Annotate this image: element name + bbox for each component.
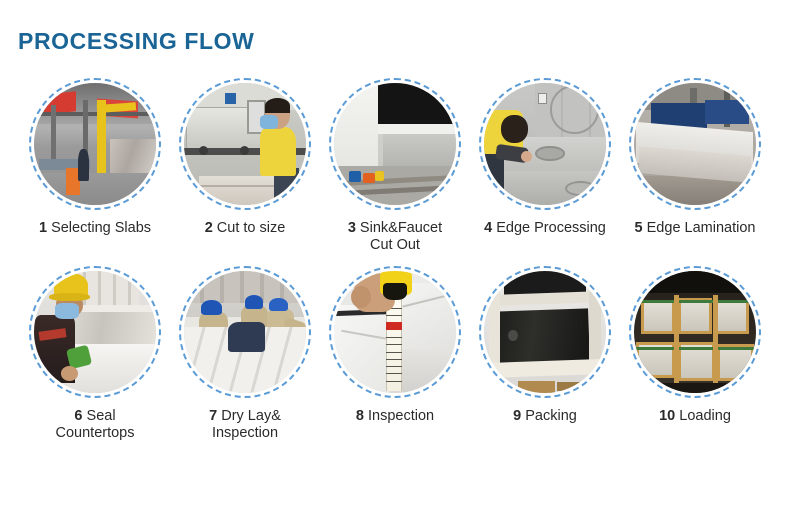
flow-step-8[interactable]: 8 Inspection (322, 266, 468, 442)
flow-step-4[interactable]: 4 Edge Processing (472, 78, 618, 254)
step-5-label: 5 Edge Lamination (635, 220, 756, 237)
edge-lamination-photo (634, 83, 756, 205)
flow-step-6[interactable]: 6 SealCountertops (22, 266, 168, 442)
step-7-label: 7 Dry Lay&Inspection (209, 408, 281, 442)
step-9-circle (479, 266, 611, 398)
cut-to-size-photo (184, 83, 306, 205)
dry-lay-inspection-photo (184, 271, 306, 393)
selecting-slabs-photo (34, 83, 156, 205)
step-3-circle (329, 78, 461, 210)
step-8-label: 8 Inspection (356, 408, 434, 425)
flow-step-5[interactable]: 5 Edge Lamination (622, 78, 768, 254)
seal-countertops-photo (34, 271, 156, 393)
step-1-label: 1 Selecting Slabs (39, 220, 151, 237)
step-2-label: 2 Cut to size (205, 220, 286, 237)
step-9-label: 9 Packing (513, 408, 577, 425)
step-4-circle (479, 78, 611, 210)
step-7-circle (179, 266, 311, 398)
step-6-circle (29, 266, 161, 398)
step-10-circle (629, 266, 761, 398)
sink-faucet-cutout-photo (334, 83, 456, 205)
inspection-photo (334, 271, 456, 393)
step-2-circle (179, 78, 311, 210)
flow-step-10[interactable]: 10 Loading (622, 266, 768, 442)
page-title: PROCESSING FLOW (18, 28, 254, 55)
flow-step-7[interactable]: 7 Dry Lay&Inspection (172, 266, 318, 442)
loading-photo (634, 271, 756, 393)
step-4-label: 4 Edge Processing (484, 220, 606, 237)
step-5-circle (629, 78, 761, 210)
flow-row-2: 6 SealCountertops (0, 266, 790, 442)
flow-row-1: 1 Selecting Slabs (0, 78, 790, 254)
flow-step-9[interactable]: 9 Packing (472, 266, 618, 442)
step-6-label: 6 SealCountertops (56, 408, 135, 442)
flow-step-3[interactable]: 3 Sink&FaucetCut Out (322, 78, 468, 254)
step-10-label: 10 Loading (659, 408, 731, 425)
packing-photo (484, 271, 606, 393)
step-3-label: 3 Sink&FaucetCut Out (348, 220, 442, 254)
step-1-circle (29, 78, 161, 210)
processing-flow-grid: 1 Selecting Slabs (0, 78, 790, 442)
flow-step-1[interactable]: 1 Selecting Slabs (22, 78, 168, 254)
edge-processing-photo (484, 83, 606, 205)
flow-step-2[interactable]: 2 Cut to size (172, 78, 318, 254)
step-8-circle (329, 266, 461, 398)
